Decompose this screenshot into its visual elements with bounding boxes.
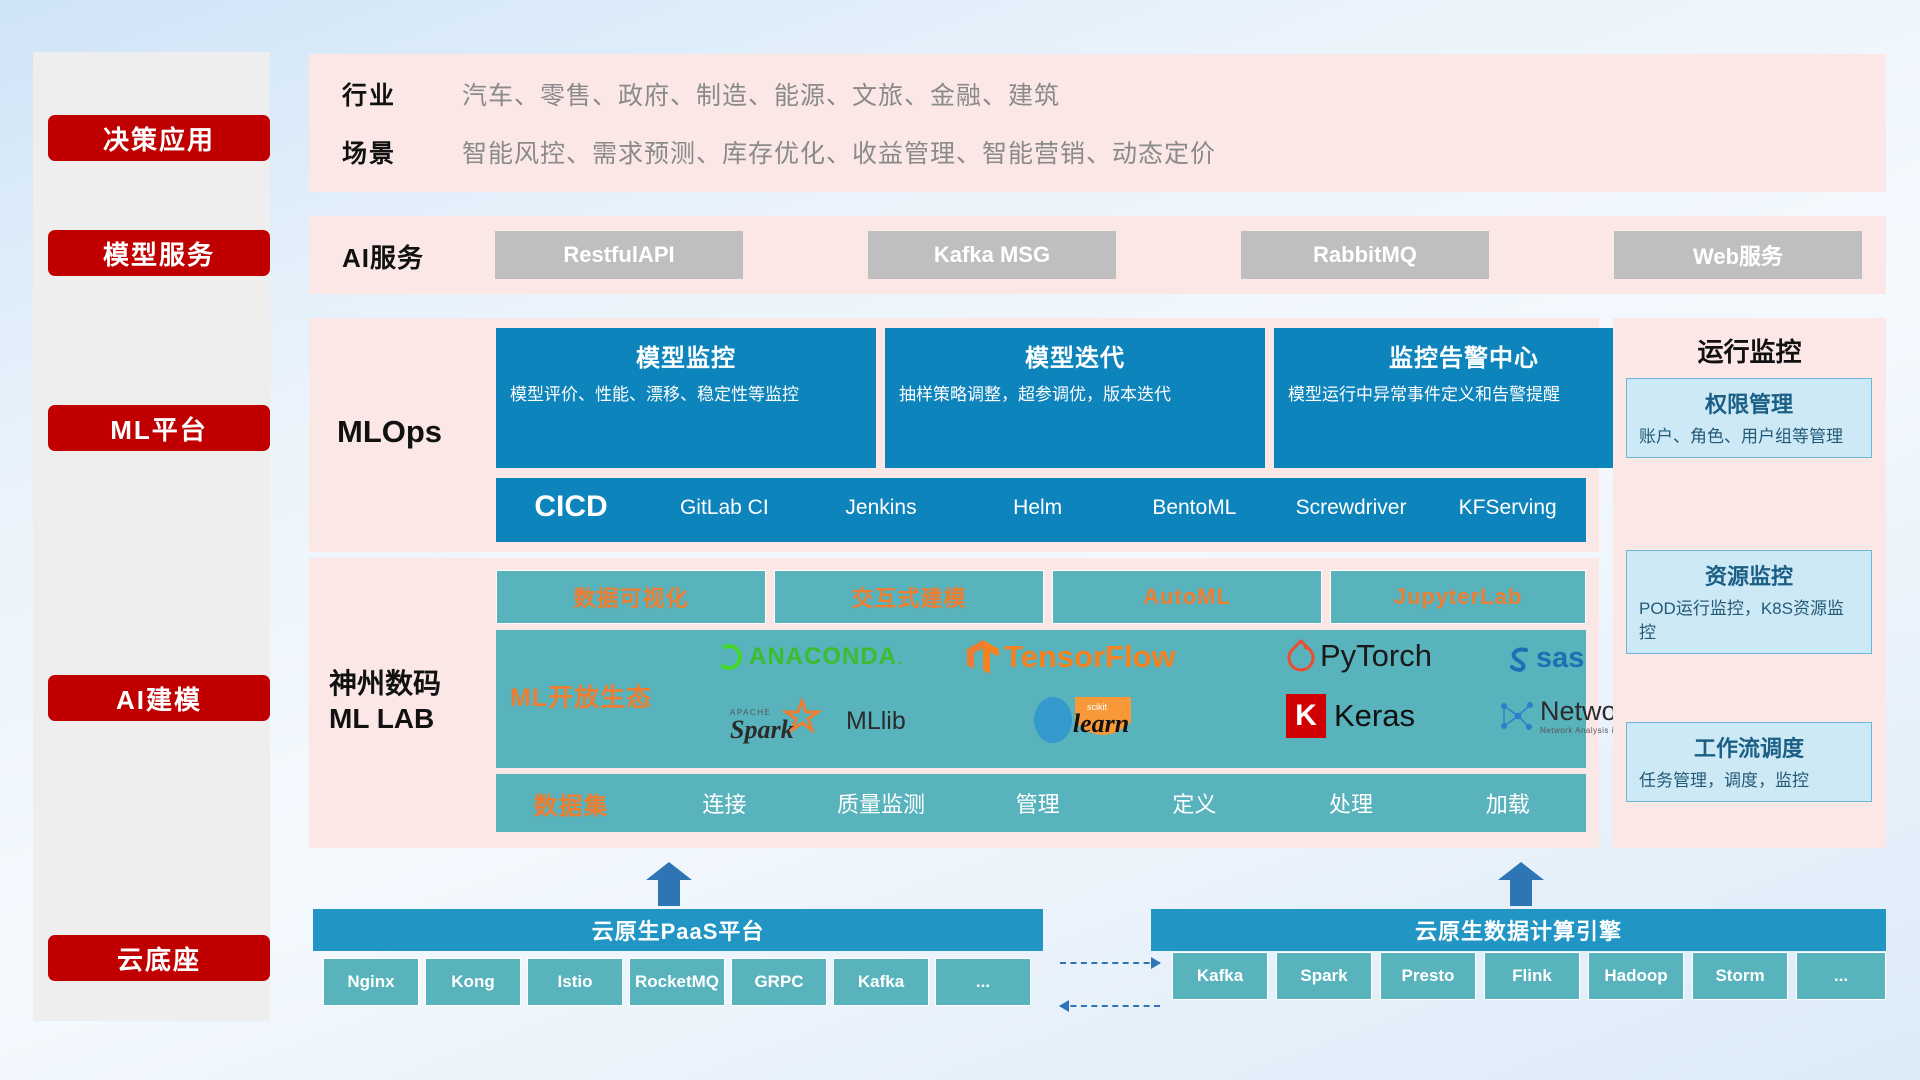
tech-chip-spark[interactable]: Spark [1276,952,1372,1000]
rail-item-label: ML平台 [110,410,208,447]
dataset-item-define[interactable]: 定义 [1116,787,1273,819]
mlops-card-title: 监控告警中心 [1288,338,1640,373]
keras-wordmark: Keras [1334,698,1415,734]
lab-tool-label: 交互式建模 [851,581,966,613]
mllib-wordmark: MLlib [846,707,906,736]
cicd-item-gitlab-ci[interactable]: GitLab CI [646,478,803,520]
tech-chip-more-left[interactable]: ... [935,958,1031,1006]
monitor-card-title: 工作流调度 [1639,731,1859,763]
left-rail [33,52,270,1021]
industry-row: 行业 汽车、零售、政府、制造、能源、文旅、金融、建筑 [342,76,1060,112]
ai-service-band: AI服务 RestfulAPI Kafka MSG RabbitMQ Web服务 [309,216,1886,294]
tech-chip-more-right[interactable]: ... [1796,952,1886,1000]
rail-item-decision-app[interactable]: 决策应用 [48,115,270,161]
rail-item-label: AI建模 [116,680,202,717]
ai-service-label: AI服务 [342,238,424,275]
lab-tool-interactive-modeling[interactable]: 交互式建模 [774,570,1044,624]
tech-chip-kong[interactable]: Kong [425,958,521,1006]
industry-label: 行业 [342,76,462,112]
dataset-item-quality-monitor[interactable]: 质量监测 [803,787,960,819]
rail-item-label: 模型服务 [103,235,215,272]
ml-lab-label: 神州数码 ML LAB [329,666,494,736]
tech-chip-storm[interactable]: Storm [1692,952,1788,1000]
scenario-row: 场景 智能风控、需求预测、库存优化、收益管理、智能营销、动态定价 [342,134,1216,170]
ml-lab-band: 神州数码 ML LAB 数据可视化 交互式建模 AutoML JupyterLa… [309,558,1599,848]
dataset-item-manage[interactable]: 管理 [959,787,1116,819]
rail-item-model-service[interactable]: 模型服务 [48,230,270,276]
dataset-item-process[interactable]: 处理 [1273,787,1430,819]
paas-platform-bar[interactable]: 云原生PaaS平台 [313,909,1043,951]
runtime-monitoring-title: 运行监控 [1613,332,1886,369]
sas-logo: sas [1504,642,1584,675]
lab-tool-label: JupyterLab [1394,584,1523,610]
cicd-item-screwdriver[interactable]: Screwdriver [1273,478,1430,520]
tech-chip-rocketmq[interactable]: RocketMQ [629,958,725,1006]
mlops-card-desc: 抽样策略调整，超参调优，版本迭代 [899,383,1251,408]
service-chip-restfulapi[interactable]: RestfulAPI [495,231,743,279]
dashed-arrow-left-icon [1060,1005,1160,1007]
service-chip-label: Kafka MSG [934,242,1050,268]
ml-open-ecosystem-title: ML开放生态 [510,678,652,714]
ml-open-ecosystem-panel: ML开放生态 ANACONDA . TensorFlow [496,630,1586,768]
service-chip-label: Web服务 [1693,239,1783,271]
mlops-card-alert-center[interactable]: 监控告警中心 模型运行中异常事件定义和告警提醒 [1274,328,1654,468]
mlops-card-title: 模型监控 [510,338,862,373]
service-chip-kafka-msg[interactable]: Kafka MSG [868,231,1116,279]
cicd-item-helm[interactable]: Helm [959,478,1116,520]
arrow-up-paas-icon [646,862,692,906]
lab-tool-label: 数据可视化 [573,581,688,613]
rail-item-ai-modeling[interactable]: AI建模 [48,675,270,721]
lab-tool-data-visualization[interactable]: 数据可视化 [496,570,766,624]
cicd-title: CICD [496,478,646,524]
monitor-card-workflow-scheduling[interactable]: 工作流调度 任务管理，调度，监控 [1626,722,1872,802]
runtime-monitoring-panel: 运行监控 权限管理 账户、角色、用户组等管理 资源监控 POD运行监控，K8S资… [1613,318,1886,848]
svg-text:Spark: Spark [730,715,794,744]
service-chip-web-service[interactable]: Web服务 [1614,231,1862,279]
arrow-up-data-engine-icon [1498,862,1544,906]
rail-item-label: 云底座 [117,940,201,977]
mlops-card-desc: 模型运行中异常事件定义和告警提醒 [1288,383,1640,408]
monitor-card-desc: 任务管理，调度，监控 [1639,769,1859,793]
mlops-band: MLOps 模型监控 模型评价、性能、漂移、稳定性等监控 模型迭代 抽样策略调整… [309,318,1599,552]
pytorch-wordmark: PyTorch [1320,638,1432,674]
ml-lab-label-line1: 神州数码 [329,666,494,701]
spark-mark-icon: APACHE Spark [730,698,840,744]
keras-mark-icon: K [1286,694,1326,738]
mlops-card-model-iteration[interactable]: 模型迭代 抽样策略调整，超参调优，版本迭代 [885,328,1265,468]
spark-mllib-logo: APACHE Spark MLlib [730,698,906,744]
tech-chip-kafka-right[interactable]: Kafka [1172,952,1268,1000]
ml-lab-label-line2: ML LAB [329,701,494,736]
cicd-item-bentoml[interactable]: BentoML [1116,478,1273,520]
service-chip-label: RestfulAPI [563,242,674,268]
mlops-label: MLOps [337,414,442,450]
scenario-label: 场景 [342,134,462,170]
sas-wordmark: sas [1536,642,1584,675]
industry-value: 汽车、零售、政府、制造、能源、文旅、金融、建筑 [462,76,1060,112]
industry-scenario-band: 行业 汽车、零售、政府、制造、能源、文旅、金融、建筑 场景 智能风控、需求预测、… [309,54,1886,192]
monitor-card-title: 资源监控 [1639,559,1859,591]
rail-item-cloud-base[interactable]: 云底座 [48,935,270,981]
svg-text:learn: learn [1073,709,1129,738]
tensorflow-logo: TensorFlow [966,638,1176,676]
anaconda-mark-icon [714,642,744,672]
dataset-title: 数据集 [496,786,646,821]
pytorch-logo: PyTorch [1286,638,1432,674]
monitor-card-permission-management[interactable]: 权限管理 账户、角色、用户组等管理 [1626,378,1872,458]
monitor-card-desc: POD运行监控，K8S资源监控 [1639,597,1859,645]
lab-tool-label: AutoML [1143,584,1231,610]
scikit-learn-mark-icon: scikit learn [1031,692,1156,748]
cicd-item-kfserving[interactable]: KFServing [1429,478,1586,520]
anaconda-wordmark: ANACONDA [749,643,897,671]
cicd-bar: CICD GitLab CI Jenkins Helm BentoML Scre… [496,478,1586,542]
service-chip-label: RabbitMQ [1313,242,1417,268]
tech-chip-kafka-left[interactable]: Kafka [833,958,929,1006]
pytorch-mark-icon [1286,639,1316,673]
dataset-item-load[interactable]: 加载 [1429,787,1586,819]
data-compute-engine-bar[interactable]: 云原生数据计算引擎 [1151,909,1886,951]
cicd-item-jenkins[interactable]: Jenkins [803,478,960,520]
monitor-card-resource-monitoring[interactable]: 资源监控 POD运行监控，K8S资源监控 [1626,550,1872,654]
scikit-learn-logo: scikit learn [1031,692,1156,748]
rail-item-ml-platform[interactable]: ML平台 [48,405,270,451]
tech-chip-hadoop[interactable]: Hadoop [1588,952,1684,1000]
dataset-item-connect[interactable]: 连接 [646,787,803,819]
diagram-canvas: 决策应用 模型服务 ML平台 AI建模 云底座 行业 汽车、零售、政府、制造、能… [0,0,1920,1080]
tech-chip-presto[interactable]: Presto [1380,952,1476,1000]
tech-chip-istio[interactable]: Istio [527,958,623,1006]
networkx-mark-icon [1496,696,1536,736]
scenario-value: 智能风控、需求预测、库存优化、收益管理、智能营销、动态定价 [462,134,1216,170]
tech-chip-flink[interactable]: Flink [1484,952,1580,1000]
monitor-card-title: 权限管理 [1639,387,1859,419]
tech-chip-nginx[interactable]: Nginx [323,958,419,1006]
tensorflow-wordmark: TensorFlow [1004,639,1176,675]
mlops-card-model-monitoring[interactable]: 模型监控 模型评价、性能、漂移、稳定性等监控 [496,328,876,468]
lab-tool-jupyterlab[interactable]: JupyterLab [1330,570,1586,624]
dashed-arrow-right-icon [1060,962,1160,964]
lab-tool-automl[interactable]: AutoML [1052,570,1322,624]
service-chip-rabbitmq[interactable]: RabbitMQ [1241,231,1489,279]
anaconda-logo: ANACONDA . [714,642,904,672]
mlops-card-title: 模型迭代 [899,338,1251,373]
sas-mark-icon [1504,644,1534,674]
mlops-card-desc: 模型评价、性能、漂移、稳定性等监控 [510,383,862,408]
rail-item-label: 决策应用 [103,120,215,157]
monitor-card-desc: 账户、角色、用户组等管理 [1639,425,1859,449]
keras-logo: K Keras [1286,694,1415,738]
dataset-bar: 数据集 连接 质量监测 管理 定义 处理 加载 [496,774,1586,832]
tech-chip-grpc[interactable]: GRPC [731,958,827,1006]
tensorflow-mark-icon [966,638,1000,676]
